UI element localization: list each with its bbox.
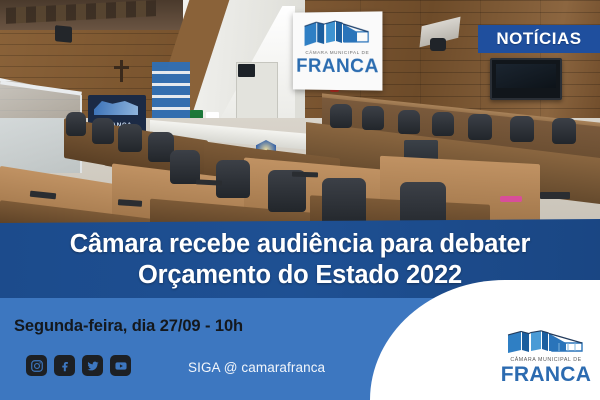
camara-building-logo-icon	[303, 20, 373, 48]
wall-sign-subtitle: CÂMARA MUNICIPAL DE	[293, 50, 383, 55]
chair	[66, 112, 86, 136]
follow-handle-text: SIGA @ camarafranca	[188, 360, 325, 375]
crucifix-icon	[120, 60, 123, 82]
chair	[322, 178, 366, 226]
pink-marker	[500, 196, 522, 202]
camara-building-logo-icon	[506, 330, 586, 356]
chair	[510, 116, 534, 142]
facebook-icon[interactable]	[54, 355, 75, 376]
footer-logo-title: FRANCA	[500, 363, 592, 387]
speaker-icon	[55, 25, 72, 43]
chair	[552, 118, 576, 144]
chair	[92, 118, 114, 144]
small-monitor	[238, 64, 255, 77]
news-banner-card: CÂMARA MUNICIPAL DE FRANCA FRANCA	[0, 0, 600, 400]
chair	[398, 110, 420, 134]
microphone	[292, 172, 318, 178]
chair	[118, 124, 142, 152]
instagram-icon[interactable]	[26, 355, 47, 376]
footer-logo: CÂMARA MUNICIPAL DE FRANCA	[500, 330, 592, 390]
chair	[330, 104, 352, 128]
chair	[432, 112, 454, 136]
podium-logo-icon	[94, 101, 138, 115]
headline-line-2: Orçamento do Estado 2022	[138, 260, 462, 291]
youtube-icon[interactable]	[110, 355, 131, 376]
chair	[362, 106, 384, 130]
noticias-badge: NOTÍCIAS	[478, 25, 600, 53]
headline-line-1: Câmara recebe audiência para debater	[70, 229, 531, 260]
wall-logo-sign: CÂMARA MUNICIPAL DE FRANCA	[293, 11, 383, 90]
wall-sign-title: FRANCA	[293, 56, 383, 79]
camera-icon	[430, 38, 446, 51]
social-icons-group	[26, 355, 131, 376]
wall-television	[490, 58, 562, 100]
microphone	[540, 192, 570, 199]
chair	[216, 160, 250, 198]
event-date-text: Segunda-feira, dia 27/09 - 10h	[14, 317, 243, 336]
chair	[468, 114, 492, 140]
twitter-icon[interactable]	[82, 355, 103, 376]
noticias-badge-label: NOTÍCIAS	[496, 29, 581, 49]
